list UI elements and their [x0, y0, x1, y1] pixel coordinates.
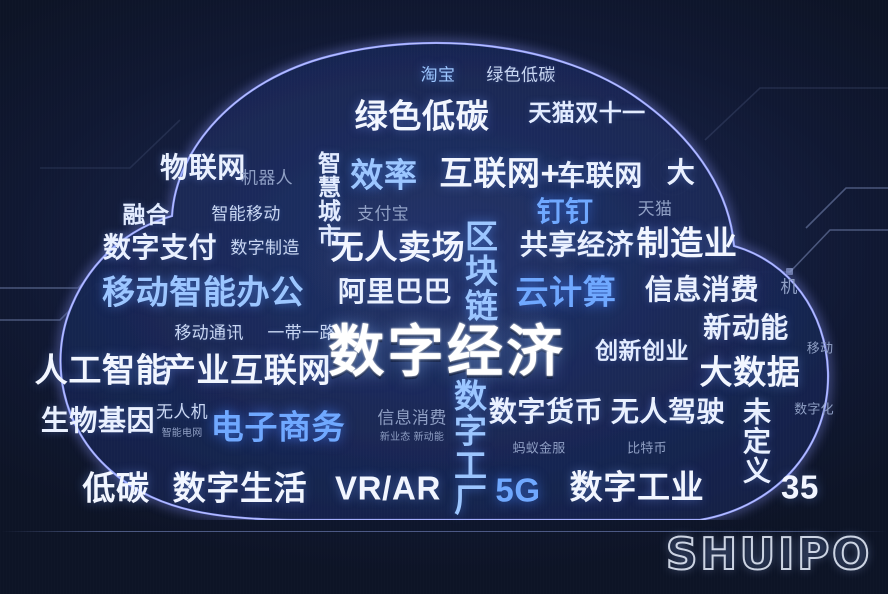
word-cloud-term: 无人机: [156, 404, 208, 421]
word-cloud-term: 物联网: [160, 154, 246, 182]
word-cloud-term: 生物基因: [41, 407, 155, 435]
watermark-shuipo: SHUIPO: [666, 529, 872, 580]
word-cloud-term: 数字生活: [173, 472, 308, 505]
word-cloud-term: 电子商务: [211, 411, 346, 444]
word-cloud-term: 制造业: [637, 227, 738, 260]
word-cloud-term: 5G: [495, 474, 540, 507]
word-cloud-term: 机: [780, 279, 797, 296]
word-cloud-term: 创新创业: [595, 340, 689, 363]
word-cloud-term: 数字工业: [570, 471, 705, 504]
word-cloud-term: 数字工厂: [452, 379, 485, 518]
word-cloud-term: 新动能: [703, 314, 789, 342]
word-cloud-term: VR/AR: [335, 472, 441, 505]
word-cloud-term: 智能移动: [211, 206, 280, 223]
word-cloud-term: 阿里巴巴: [338, 278, 452, 306]
word-cloud-term: 未定义: [741, 397, 769, 485]
word-cloud-term: 大: [667, 159, 696, 187]
word-cloud-term: 淘宝: [421, 67, 456, 84]
word-cloud-term: 绿色低碳: [355, 100, 490, 133]
word-cloud-term: 移动: [807, 342, 834, 355]
word-cloud-term: 天猫双十一: [528, 102, 645, 125]
word-cloud-term: 共享经济: [520, 231, 634, 259]
word-cloud-term: 融合: [123, 204, 170, 227]
word-cloud-term: 蚂蚁金服: [512, 442, 565, 455]
word-cloud-term: 信息消费: [377, 410, 446, 427]
word-cloud-term: 数字化: [794, 403, 834, 416]
word-cloud-term: 钉钉: [536, 198, 593, 226]
word-cloud-term: 低碳: [82, 472, 149, 505]
word-cloud-term: 数字支付: [103, 234, 217, 262]
word-cloud-term: 移动智能办公: [102, 276, 304, 309]
word-cloud-term: 天猫: [638, 201, 673, 218]
word-cloud-term: 35: [781, 471, 819, 504]
word-cloud-term: 效率: [350, 159, 417, 192]
word-cloud-term: 互联网+: [440, 157, 561, 190]
word-cloud-term: 无人卖场: [331, 231, 466, 264]
word-cloud-term: 机器人: [241, 170, 293, 187]
word-cloud-term: 数字制造: [230, 240, 299, 257]
word-cloud-term: 信息消费: [645, 276, 759, 304]
word-cloud-term: 支付宝: [357, 206, 409, 223]
word-cloud-term: 比特币: [627, 442, 667, 455]
word-list: 淘宝绿色低碳绿色低碳天猫双十一物联网机器人智慧城市效率互联网+车联网大融合智能移…: [0, 0, 888, 594]
word-cloud-term: 车联网: [557, 162, 643, 190]
word-cloud-term: 人工智能: [35, 354, 170, 387]
word-cloud-term: 大数据: [700, 356, 801, 389]
word-cloud-term: 区块链: [463, 219, 496, 323]
word-cloud-term: 智能电网: [162, 429, 203, 439]
word-cloud-image: 淘宝绿色低碳绿色低碳天猫双十一物联网机器人智慧城市效率互联网+车联网大融合智能移…: [0, 0, 888, 594]
word-cloud-term: 绿色低碳: [486, 67, 555, 84]
hero-word-digital-economy: 数字经济: [328, 324, 565, 380]
word-cloud-term: 新业态 新动能: [380, 433, 444, 443]
word-cloud-term: 产业互联网: [163, 354, 331, 387]
word-cloud-term: 数字货币: [489, 398, 603, 426]
word-cloud-term: 移动通讯: [174, 325, 243, 342]
word-cloud-term: 无人驾驶: [611, 398, 725, 426]
word-cloud-term: 一带一路: [267, 325, 336, 342]
word-cloud-term: 云计算: [516, 276, 617, 309]
